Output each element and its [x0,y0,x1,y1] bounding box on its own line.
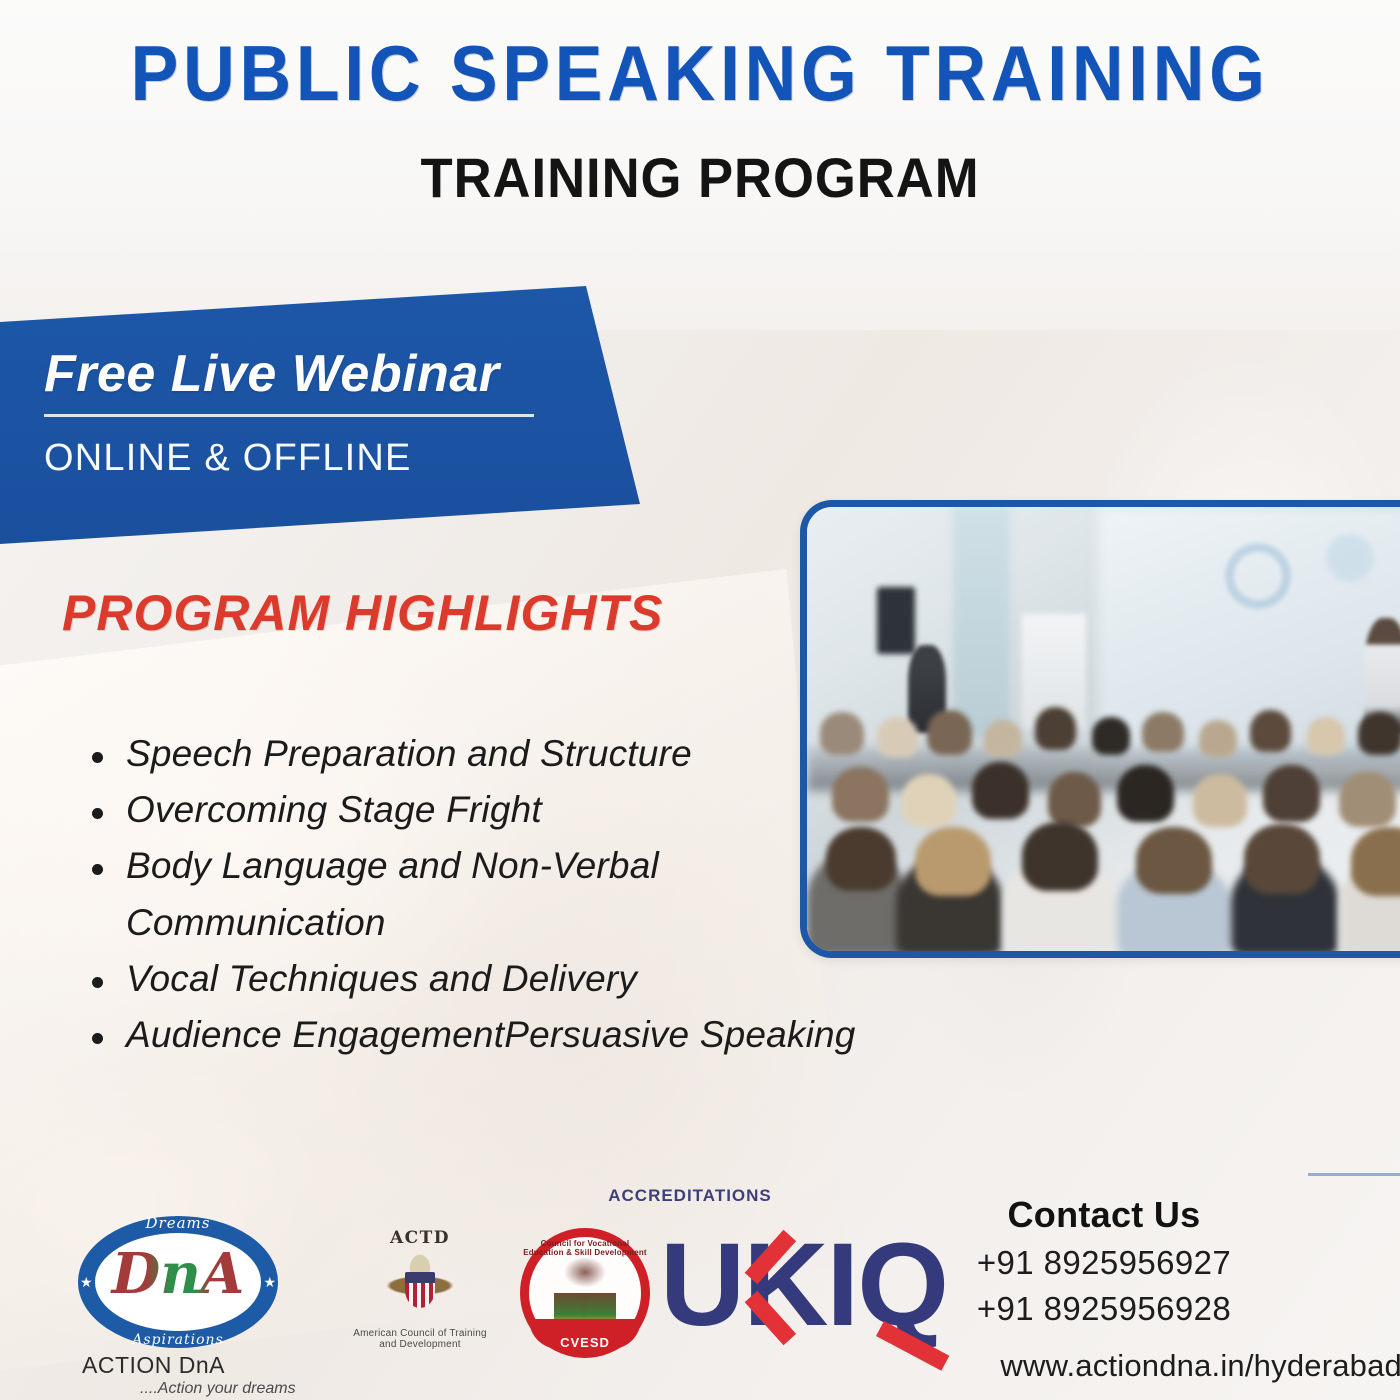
ukiq-chevron-icon [745,1232,807,1340]
actd-logo: ACTD American Council of Training and De… [355,1228,485,1358]
action-dna-logo: Dreams DnA ★ ★ Aspirations [78,1216,278,1348]
actd-abbreviation: ACTD [355,1228,485,1248]
footer-block: Dreams DnA ★ ★ Aspirations ACTION DnA ..… [0,1180,1400,1400]
logo-ring-bottom-text: Aspirations [78,1332,278,1348]
contact-heading: Contact Us [894,1194,1314,1236]
header-block: PUBLIC SPEAKING TRAINING TRAINING PROGRA… [0,34,1400,206]
star-icon: ★ [80,1274,93,1291]
star-icon: ★ [263,1274,276,1291]
accreditations-label: ACCREDITATIONS [590,1186,790,1206]
list-item: Vocal Techniques and Delivery [84,951,964,1007]
webinar-banner-divider [44,414,534,417]
photo-image [807,507,1400,951]
webinar-banner-content: Free Live Webinar ONLINE & OFFLINE [44,348,584,477]
actd-full-name: American Council of Training and Develop… [349,1328,491,1350]
program-highlights-heading: PROGRAM HIGHLIGHTS [62,584,663,642]
page-subtitle: TRAINING PROGRAM [42,150,1358,206]
poster-canvas: PUBLIC SPEAKING TRAINING TRAINING PROGRA… [0,0,1400,1400]
actd-arc: American Council of Training and Develop… [349,1302,491,1364]
photo-audience [807,702,1400,951]
page-title: PUBLIC SPEAKING TRAINING [56,34,1344,112]
company-tagline: ....Action your dreams [140,1380,296,1398]
cvesd-abbreviation: CVESD [520,1335,650,1350]
contact-website[interactable]: www.actiondna.in/hyderabad [962,1348,1400,1384]
webinar-banner: Free Live Webinar ONLINE & OFFLINE [0,286,646,548]
conference-audience-photo [800,500,1400,958]
cvesd-logo: Council for Vocational Education & Skill… [520,1228,650,1358]
webinar-banner-subtitle: ONLINE & OFFLINE [44,439,584,477]
list-item: Audience EngagementPersuasive Speaking [84,1007,964,1063]
logo-monogram: DnA [78,1246,278,1302]
webinar-banner-title: Free Live Webinar [44,348,584,400]
tree-icon [554,1254,616,1324]
company-name: ACTION DnA [82,1352,225,1379]
right-edge-divider [1308,1173,1400,1176]
contact-block: Contact Us +91 8925956927 +91 8925956928 [894,1194,1314,1328]
contact-phone-2[interactable]: +91 8925956928 [894,1290,1314,1328]
logo-ring-top-text: Dreams [78,1214,278,1232]
contact-phone-1[interactable]: +91 8925956927 [894,1244,1314,1282]
